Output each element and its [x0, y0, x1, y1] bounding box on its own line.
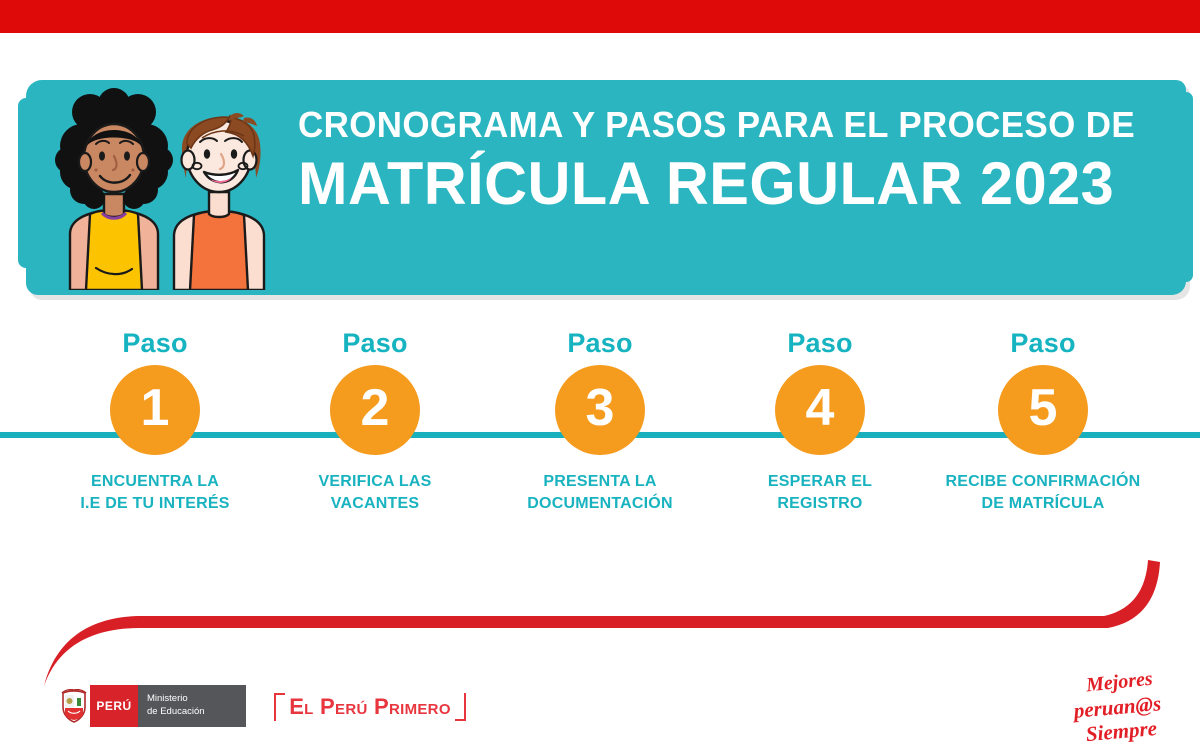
- footer: PERÚ Ministerio de Educación El Perú Pri…: [0, 672, 1200, 740]
- step-3-label-line2: DOCUMENTACIÓN: [485, 493, 715, 515]
- peru-label: PERÚ: [90, 685, 138, 727]
- step-3-circle[interactable]: 3: [555, 365, 645, 455]
- two-children-illustration: [34, 86, 296, 290]
- step-5-number: 5: [1029, 382, 1058, 438]
- peru-primero-slogan: El Perú Primero: [272, 690, 468, 724]
- step-4-number: 4: [806, 382, 835, 438]
- top-red-bar: [0, 0, 1200, 33]
- step-3-label-line1: PRESENTA LA: [485, 471, 715, 493]
- step-2-label: VERIFICA LAS VACANTES: [260, 471, 490, 514]
- ministry-line1: Ministerio: [147, 693, 246, 706]
- step-1-label: ENCUENTRA LA I.E DE TU INTERÉS: [40, 471, 270, 514]
- step-2[interactable]: Paso 2 VERIFICA LAS VACANTES: [260, 330, 490, 514]
- peru-primero-text: El Perú Primero: [289, 694, 451, 720]
- step-4-paso-label: Paso: [705, 330, 935, 357]
- step-1-label-line1: ENCUENTRA LA: [40, 471, 270, 493]
- step-5-label: RECIBE CONFIRMACIÓN DE MATRÍCULA: [928, 471, 1158, 514]
- step-2-label-line2: VACANTES: [260, 493, 490, 515]
- step-5[interactable]: Paso 5 RECIBE CONFIRMACIÓN DE MATRÍCULA: [928, 330, 1158, 514]
- step-3[interactable]: Paso 3 PRESENTA LA DOCUMENTACIÓN: [485, 330, 715, 514]
- step-5-paso-label: Paso: [928, 330, 1158, 357]
- step-3-number: 3: [586, 382, 615, 438]
- steps-container: Paso 1 ENCUENTRA LA I.E DE TU INTERÉS Pa…: [0, 330, 1200, 580]
- step-4-label-line2: REGISTRO: [705, 493, 935, 515]
- step-4-circle[interactable]: 4: [775, 365, 865, 455]
- step-5-circle[interactable]: 5: [998, 365, 1088, 455]
- banner-title-line2: MATRÍCULA REGULAR 2023: [298, 152, 1153, 217]
- banner-title-line1: CRONOGRAMA Y PASOS PARA EL PROCESO DE: [298, 106, 1136, 144]
- header-banner: CRONOGRAMA Y PASOS PARA EL PROCESO DE MA…: [26, 80, 1186, 295]
- step-2-label-line1: VERIFICA LAS: [260, 471, 490, 493]
- bracket-bottom-right-icon: [455, 693, 466, 721]
- step-5-label-line2: DE MATRÍCULA: [928, 493, 1158, 515]
- ministry-label: Ministerio de Educación: [138, 685, 246, 727]
- red-swoosh-decoration: [0, 560, 1200, 690]
- step-2-number: 2: [361, 382, 390, 438]
- step-5-label-line1: RECIBE CONFIRMACIÓN: [928, 471, 1158, 493]
- step-2-circle[interactable]: 2: [330, 365, 420, 455]
- step-2-paso-label: Paso: [260, 330, 490, 357]
- bracket-top-left-icon: [274, 693, 285, 721]
- ministry-line2: de Educación: [147, 706, 246, 719]
- step-3-label: PRESENTA LA DOCUMENTACIÓN: [485, 471, 715, 514]
- step-1-label-line2: I.E DE TU INTERÉS: [40, 493, 270, 515]
- step-4-label-line1: ESPERAR EL: [705, 471, 935, 493]
- step-1-number: 1: [141, 382, 170, 438]
- step-4[interactable]: Paso 4 ESPERAR EL REGISTRO: [705, 330, 935, 514]
- step-1-paso-label: Paso: [40, 330, 270, 357]
- step-3-paso-label: Paso: [485, 330, 715, 357]
- step-4-label: ESPERAR EL REGISTRO: [705, 471, 935, 514]
- mejores-peruanos-siempre-logo: Mejores peruan@s Siempre: [1050, 664, 1190, 744]
- gov-logo-lockup: PERÚ Ministerio de Educación: [58, 685, 246, 727]
- step-1-circle[interactable]: 1: [110, 365, 200, 455]
- peru-coat-of-arms-icon: [58, 685, 90, 727]
- step-1[interactable]: Paso 1 ENCUENTRA LA I.E DE TU INTERÉS: [40, 330, 270, 514]
- banner-title-group: CRONOGRAMA Y PASOS PARA EL PROCESO DE MA…: [298, 106, 1162, 217]
